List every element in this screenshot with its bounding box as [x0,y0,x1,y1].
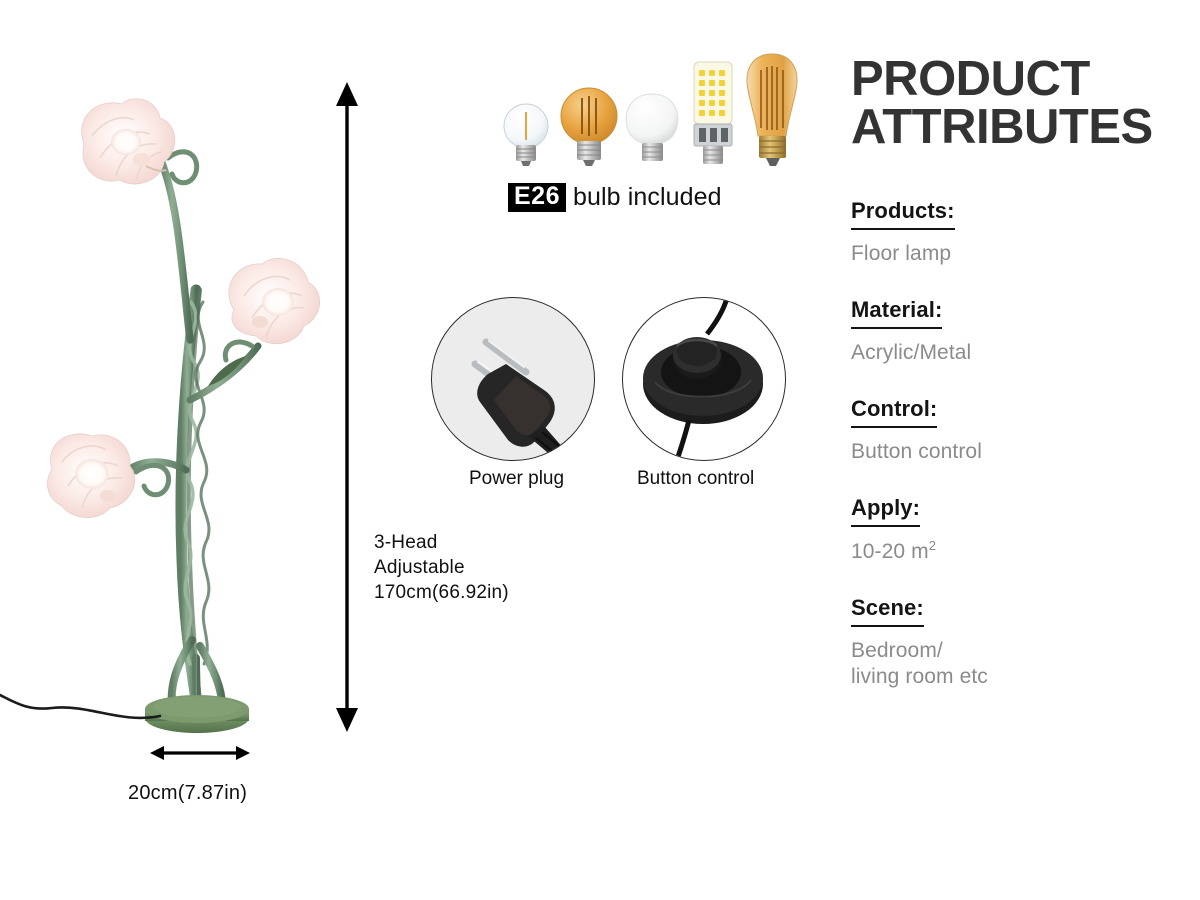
title-line-1: PRODUCT [851,55,1191,103]
attributes-panel: PRODUCT ATTRIBUTES Products: Floor lamp … [851,55,1191,720]
bulb-lineup [500,48,800,178]
width-dimension-label: 20cm(7.87in) [128,781,247,806]
attribute-value-products: Floor lamp [851,241,1191,268]
power-cord [0,695,160,718]
bulb-clear-globe [504,104,548,166]
infographic-canvas: 3-Head Adjustable 170cm(66.92in) 20cm(7.… [0,0,1200,900]
flower-shade-lower-left [47,434,134,518]
button-control-caption: Button control [637,468,754,490]
bulb-included-text: bulb included [573,183,722,212]
bulb-amber-globe [561,88,617,166]
height-dimension-label: 3-Head Adjustable 170cm(66.92in) [374,530,509,605]
attribute-row-scene: Scene: Bedroom/ living room etc [851,595,1191,692]
attribute-label-apply: Apply: [851,495,920,527]
attribute-value-control: Button control [851,439,1191,466]
button-control-inset [622,297,786,461]
lamp-base [145,695,249,733]
bulb-corn-led [694,62,732,164]
power-plug-icon [475,341,572,458]
attribute-row-products: Products: Floor lamp [851,198,1191,268]
attribute-row-apply: Apply: 10-20 m2 [851,495,1191,566]
attribute-value-scene: Bedroom/ living room etc [851,638,1191,692]
power-plug-inset [431,297,595,461]
attribute-label-products: Products: [851,198,955,230]
attribute-row-control: Control: Button control [851,396,1191,466]
width-dimension-arrow [150,742,250,764]
attribute-label-material: Material: [851,297,942,329]
bulb-white-opaque [626,94,678,161]
bulb-included-caption: E26 bulb included [508,183,722,212]
flower-shade-right [229,258,320,343]
foot-switch-icon [643,298,763,460]
leaf-curl-2 [136,465,169,494]
attribute-value-apply-text: 10-20 m [851,540,929,563]
attribute-value-apply: 10-20 m2 [851,538,1191,566]
page-title: PRODUCT ATTRIBUTES [851,55,1191,151]
flower-shade-upper-left [82,99,175,184]
bulb-edison-st64 [747,54,797,166]
attribute-value-apply-sup: 2 [929,538,936,553]
floor-lamp-photo [0,40,330,740]
attribute-list: Products: Floor lamp Material: Acrylic/M… [851,198,1191,691]
attribute-value-material: Acrylic/Metal [851,340,1191,367]
attribute-row-material: Material: Acrylic/Metal [851,297,1191,367]
e26-badge: E26 [508,183,566,212]
attribute-label-scene: Scene: [851,595,924,627]
attribute-label-control: Control: [851,396,937,428]
height-dimension-arrow [326,82,368,732]
power-plug-caption: Power plug [469,468,564,490]
leaf-curl-1 [168,152,197,183]
title-line-2: ATTRIBUTES [851,103,1191,151]
branch-upper-left [160,158,190,340]
